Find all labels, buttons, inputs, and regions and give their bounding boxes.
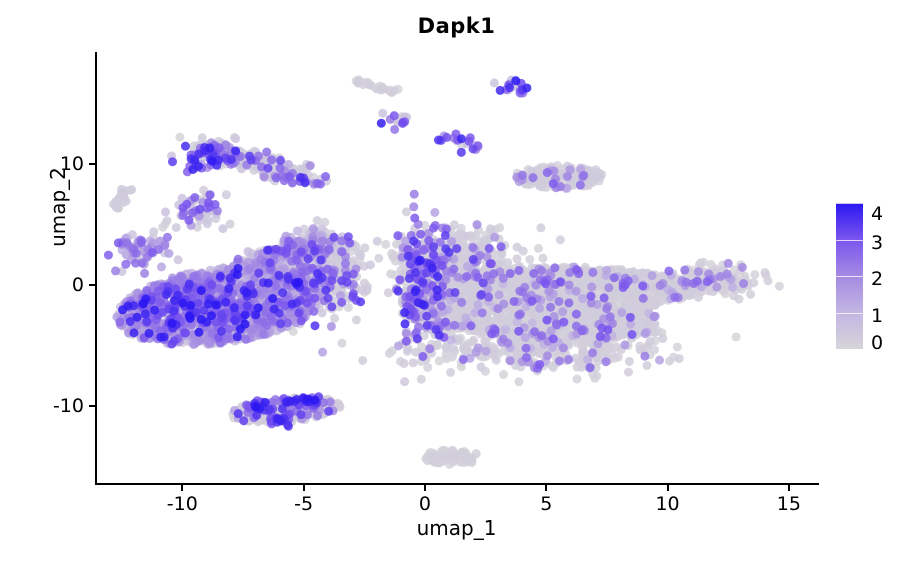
scatter-point: [477, 362, 486, 371]
scatter-point: [573, 375, 582, 384]
scatter-point: [174, 255, 183, 264]
scatter-point: [499, 370, 508, 379]
scatter-point: [306, 161, 315, 170]
scatter-point: [579, 347, 588, 356]
scatter-point: [625, 293, 634, 302]
scatter-point: [119, 191, 128, 200]
scatter-point: [417, 375, 426, 384]
scatter-point: [309, 224, 318, 233]
scatter-point: [175, 133, 184, 142]
scatter-point: [673, 343, 682, 352]
scatter-point: [624, 368, 633, 377]
scatter-point: [327, 322, 336, 331]
scatter-point: [403, 347, 412, 356]
scatter-point: [746, 290, 755, 299]
umap-feature-plot: Dapk1 -10-5051015 100-10 umap_1 umap_2 4…: [0, 0, 911, 562]
scatter-point: [318, 308, 327, 317]
page-title: Dapk1: [95, 14, 818, 38]
scatter-point: [449, 451, 458, 460]
scatter-point: [400, 359, 409, 368]
scatter-point: [578, 294, 587, 303]
scatter-point: [354, 248, 363, 257]
scatter-point: [473, 300, 482, 309]
scatter-point: [738, 263, 747, 272]
scatter-point: [378, 109, 387, 118]
scatter-point: [585, 312, 594, 321]
scatter-point: [760, 268, 769, 277]
scatter-point: [164, 249, 173, 258]
scatter-point: [222, 190, 231, 199]
scatter-point: [384, 288, 393, 297]
scatter-point: [400, 377, 409, 386]
scatter-point: [381, 240, 390, 249]
scatter-point: [732, 332, 741, 341]
scatter-point: [490, 233, 499, 242]
scatter-point: [514, 377, 523, 386]
scatter-point: [390, 86, 399, 95]
scatter-point: [728, 283, 737, 292]
scatter-point: [358, 356, 367, 365]
scatter-point: [607, 348, 616, 357]
scatter-point: [490, 78, 499, 87]
scatter-point: [162, 216, 171, 225]
scatter-point: [519, 247, 528, 256]
scatter-point: [620, 340, 629, 349]
scatter-point: [675, 354, 684, 363]
scatter-point: [430, 208, 439, 217]
scatter-point: [357, 285, 366, 294]
scatter-point: [481, 347, 490, 356]
scatter-point: [625, 357, 634, 366]
scatter-point: [462, 452, 471, 461]
scatter-point: [218, 224, 227, 233]
scatter-point: [501, 325, 510, 334]
scatter-point: [543, 351, 552, 360]
scatter-point: [750, 270, 759, 279]
scatter-point: [525, 255, 534, 264]
scatter-point: [402, 329, 411, 338]
scatter-point: [467, 282, 476, 291]
scatter-point: [556, 235, 565, 244]
scatter-point: [313, 216, 322, 225]
scatter-point: [365, 80, 374, 89]
scatter-point: [648, 271, 657, 280]
scatter-point: [366, 260, 375, 269]
scatter-point: [352, 315, 361, 324]
scatter-point: [655, 356, 664, 365]
scatter-point: [354, 79, 363, 88]
scatter-point: [161, 207, 170, 216]
scatter-point: [534, 244, 543, 253]
scatter-point: [503, 317, 512, 326]
scatter-point: [378, 85, 387, 94]
scatter-point: [638, 269, 647, 278]
scatter-point: [589, 171, 598, 180]
scatter-point: [641, 329, 650, 338]
scatter-point: [763, 276, 772, 285]
scatter-point: [385, 349, 394, 358]
scatter-point: [423, 363, 432, 372]
scatter-point: [402, 207, 411, 216]
scatter-point: [473, 220, 482, 229]
scatter-point: [538, 254, 547, 263]
scatter-point: [587, 282, 596, 291]
scatter-point: [231, 134, 240, 143]
scatter-point: [749, 278, 758, 287]
scatter-point: [646, 337, 655, 346]
scatter-point: [535, 304, 544, 313]
scatter-point: [536, 223, 545, 232]
scatter-point: [465, 299, 474, 308]
scatter-point: [450, 220, 459, 229]
scatter-point: [572, 287, 581, 296]
scatter-point: [157, 262, 166, 271]
scatter-point: [459, 344, 468, 353]
scatter-point: [259, 172, 268, 181]
scatter-point: [318, 348, 327, 357]
scatter-point: [394, 341, 403, 350]
scatter-point: [243, 247, 252, 256]
scatter-point: [775, 282, 784, 291]
scatter-point: [446, 368, 455, 377]
scatter-point: [474, 343, 483, 352]
scatter-points-layer: [95, 52, 818, 484]
scatter-point: [694, 267, 703, 276]
scatter-point: [506, 356, 515, 365]
scatter-point: [149, 227, 158, 236]
scatter-point: [617, 308, 626, 317]
scatter-point: [337, 339, 346, 348]
scatter-point: [426, 452, 435, 461]
scatter-point: [649, 312, 658, 321]
scatter-point: [712, 283, 721, 292]
scatter-point: [373, 237, 382, 246]
scatter-point: [172, 223, 181, 232]
scatter-point: [602, 266, 611, 275]
scatter-point: [575, 358, 584, 367]
scatter-point: [409, 358, 418, 367]
scatter-point: [642, 361, 651, 370]
scatter-point: [469, 336, 478, 345]
scatter-point: [293, 226, 302, 235]
scatter-point: [558, 307, 567, 316]
scatter-point: [374, 254, 383, 263]
scatter-point: [549, 363, 558, 372]
scatter-point: [330, 314, 339, 323]
scatter-point: [658, 334, 667, 343]
scatter-point: [694, 293, 703, 302]
scatter-point: [460, 231, 469, 240]
scatter-point: [665, 357, 674, 366]
scatter-point: [630, 302, 639, 311]
plot-canvas: [95, 52, 818, 484]
scatter-point: [495, 290, 504, 299]
scatter-point: [651, 301, 660, 310]
scatter-point: [495, 259, 504, 268]
scatter-point: [619, 327, 628, 336]
scatter-point: [112, 203, 121, 212]
scatter-point: [528, 318, 537, 327]
